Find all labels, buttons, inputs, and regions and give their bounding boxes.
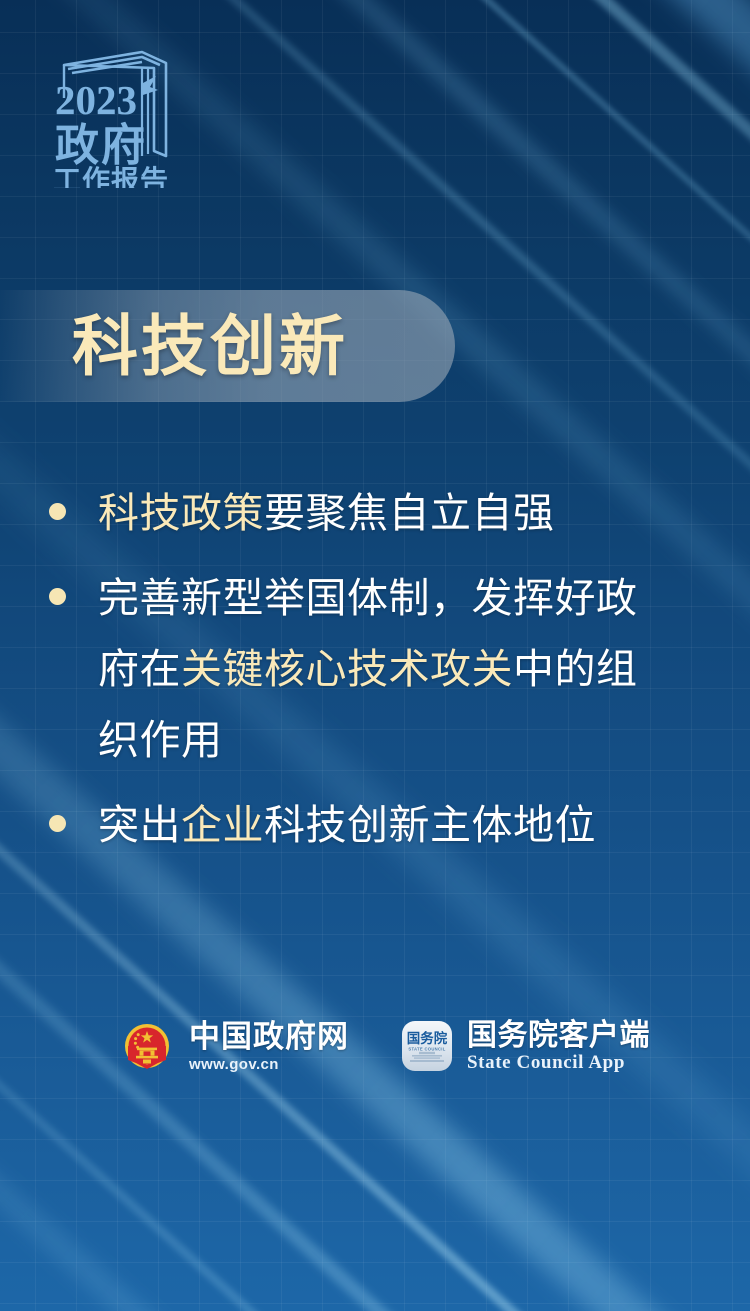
app-icon-label: 国务院 [407,1030,448,1047]
bullet-dot-icon [49,503,66,520]
plain-text: 府在 [98,645,181,693]
list-item: 突出企业科技创新主体地位 [46,790,718,861]
bullet-dot-icon [49,588,66,605]
footer: 中国政府网 www.gov.cn 国务院 STATE COUNCIL [0,1012,750,1096]
national-emblem-icon [118,1018,176,1076]
brand-text-block: 国务院客户端 State Council App [467,1018,650,1073]
report-masthead-logo: 2023 政府 工作报告 [42,38,192,188]
plain-text: 要聚焦自立自强 [264,489,555,537]
plain-text: 中的组 [513,645,638,693]
page-title: 科技创新 [72,295,348,399]
brand-name-cn: 中国政府网 [189,1020,349,1055]
list-item-line: 完善新型举国体制，发挥好政 [98,563,718,634]
bullet-list: 科技政策要聚焦自立自强 完善新型举国体制，发挥好政 府在关键核心技术攻关中的组 … [46,478,718,875]
masthead-year: 2023 [55,77,137,123]
list-item: 完善新型举国体制，发挥好政 府在关键核心技术攻关中的组 织作用 [46,563,718,776]
app-icon-sublabel: STATE COUNCIL [408,1046,445,1051]
book-icon: 2023 政府 工作报告 [42,38,192,188]
plain-text: 突出 [98,801,181,849]
brand-state-council-app[interactable]: 国务院 STATE COUNCIL 国务院客户端 State Council A… [400,1018,650,1073]
brand-text-block: 中国政府网 www.gov.cn [189,1020,349,1075]
poster-root: 2023 政府 工作报告 科技创新 科技政策要聚焦自立自强 完善新型举国体制，发… [0,0,750,1311]
bullet-dot-icon [49,815,66,832]
masthead-line2: 工作报告 [53,164,169,188]
list-item-line: 织作用 [98,705,718,776]
highlight-text: 企业 [181,801,264,849]
brand-url: www.gov.cn [189,1055,349,1075]
highlight-text: 关键核心技术攻关 [181,645,513,693]
list-item: 科技政策要聚焦自立自强 [46,478,718,549]
brand-name-cn: 国务院客户端 [467,1018,650,1053]
list-item-line: 突出企业科技创新主体地位 [98,790,718,861]
list-item-line: 府在关键核心技术攻关中的组 [98,634,718,705]
state-council-app-icon: 国务院 STATE COUNCIL [400,1019,454,1073]
list-item-line: 科技政策要聚焦自立自强 [98,478,718,549]
brand-gov-cn[interactable]: 中国政府网 www.gov.cn [118,1018,349,1076]
highlight-text: 科技政策 [98,489,264,537]
plain-text: 科技创新主体地位 [264,801,596,849]
plain-text: 完善新型举国体制，发挥好政 [98,574,638,622]
plain-text: 织作用 [98,716,223,764]
brand-name-en: State Council App [467,1053,650,1073]
